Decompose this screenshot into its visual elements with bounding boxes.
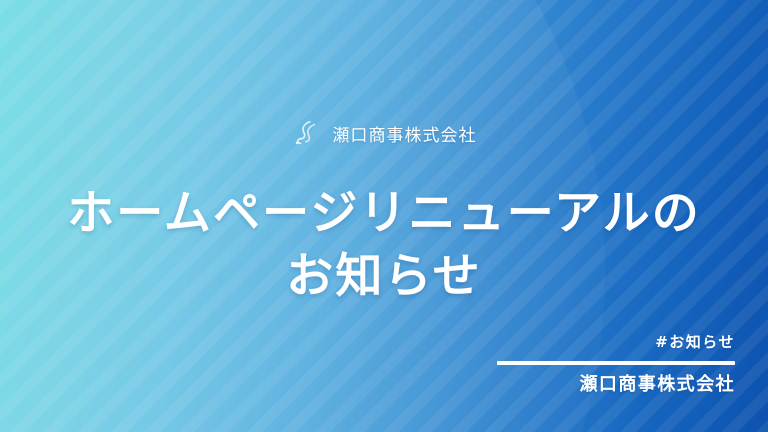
category-tag: #お知らせ — [497, 335, 735, 350]
footer-company-name: 瀬口商事株式会社 — [497, 376, 735, 394]
brand-row: 瀬口商事株式会社 — [0, 118, 768, 148]
announcement-banner: 瀬口商事株式会社 ホームページリニューアルの お知らせ #お知らせ 瀬口商事株式… — [0, 0, 768, 432]
page-title-line-2: お知らせ — [0, 246, 768, 309]
divider-rule — [497, 361, 735, 365]
brand-company-name: 瀬口商事株式会社 — [332, 121, 476, 146]
page-title-line-1: ホームページリニューアルの — [0, 183, 768, 246]
page-title: ホームページリニューアルの お知らせ — [0, 183, 768, 308]
banner-content: 瀬口商事株式会社 ホームページリニューアルの お知らせ #お知らせ 瀬口商事株式… — [0, 0, 768, 432]
banner-meta: #お知らせ 瀬口商事株式会社 — [497, 335, 735, 394]
wave-swirl-logo-icon — [291, 118, 321, 148]
